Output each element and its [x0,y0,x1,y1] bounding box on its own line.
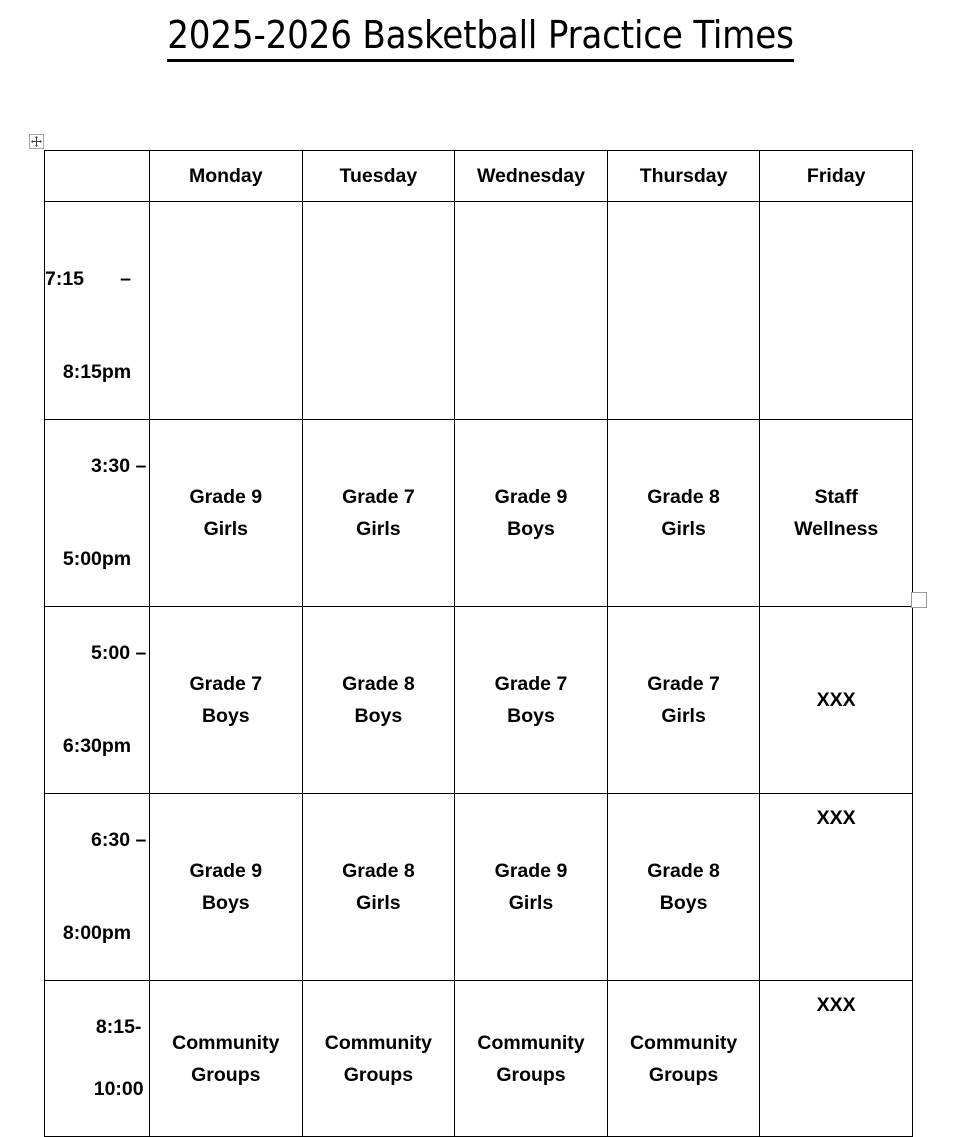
table-row: 6:30 – 8:00pm Grade 9Boys Grade 8Girls G… [45,794,913,981]
page-title: 2025-2026 Basketball Practice Times [167,12,793,62]
time-cell-row-4: 6:30 – 8:00pm [45,794,150,981]
time-cell-row-5: 8:15- 10:00 [45,981,150,1137]
table-row: 8:15- 10:00 CommunityGroups CommunityGro… [45,981,913,1137]
cell-wednesday-row-1 [455,202,608,420]
header-cell-thursday: Thursday [607,151,760,202]
cell-monday-row-1 [150,202,303,420]
cell-tuesday-row-3: Grade 8Boys [302,607,455,794]
table-header-row: Monday Tuesday Wednesday Thursday Friday [45,151,913,202]
cell-friday-row-3: XXX [760,607,913,794]
cell-thursday-row-5: CommunityGroups [607,981,760,1137]
cell-thursday-row-4: Grade 8Boys [607,794,760,981]
time-end: 6:30pm [63,735,131,757]
time-cell-row-1: 7:15 – 8:15pm [45,202,150,420]
document-page: { "document": { "title": "2025-2026 Bask… [0,0,961,640]
table-row: 3:30 – 5:00pm Grade 9Girls Grade 7Girls … [45,420,913,607]
cell-wednesday-row-4: Grade 9Girls [455,794,608,981]
cell-monday-row-3: Grade 7Boys [150,607,303,794]
table-resize-handle[interactable] [911,592,927,608]
practice-schedule-table: Monday Tuesday Wednesday Thursday Friday… [44,150,913,1137]
table-move-handle[interactable] [29,134,44,149]
time-dash: – [120,264,131,295]
time-start: 3:30 – [91,455,146,477]
time-cell-row-2: 3:30 – 5:00pm [45,420,150,607]
cell-monday-row-2: Grade 9Girls [150,420,303,607]
time-start: 7:15 [45,264,84,295]
header-cell-tuesday: Tuesday [302,151,455,202]
cell-thursday-row-2: Grade 8Girls [607,420,760,607]
cell-tuesday-row-5: CommunityGroups [302,981,455,1137]
cell-wednesday-row-3: Grade 7Boys [455,607,608,794]
cell-monday-row-4: Grade 9Boys [150,794,303,981]
move-cross-icon [30,135,43,148]
cell-tuesday-row-1 [302,202,455,420]
cell-friday-row-4: XXX [760,794,913,981]
cell-tuesday-row-4: Grade 8Girls [302,794,455,981]
cell-thursday-row-1 [607,202,760,420]
time-end: 8:00pm [63,922,131,944]
time-start: 6:30 – [91,829,146,851]
cell-thursday-row-3: Grade 7Girls [607,607,760,794]
time-end: 8:15pm [63,361,131,383]
header-corner-cell [45,151,150,202]
page-title-container: 2025-2026 Basketball Practice Times [0,12,961,62]
time-start: 8:15- [96,1016,142,1038]
cell-friday-row-5: XXX [760,981,913,1137]
time-end: 5:00pm [63,548,131,570]
header-cell-friday: Friday [760,151,913,202]
table-row: 5:00 – 6:30pm Grade 7Boys Grade 8Boys Gr… [45,607,913,794]
cell-friday-row-2: StaffWellness [760,420,913,607]
cell-monday-row-5: CommunityGroups [150,981,303,1137]
header-cell-wednesday: Wednesday [455,151,608,202]
time-start: 5:00 – [91,642,146,664]
cell-tuesday-row-2: Grade 7Girls [302,420,455,607]
cell-friday-row-1 [760,202,913,420]
header-cell-monday: Monday [150,151,303,202]
time-line-top: 7:15 – [45,264,131,295]
table-row: 7:15 – 8:15pm [45,202,913,420]
cell-wednesday-row-2: Grade 9Boys [455,420,608,607]
time-cell-row-3: 5:00 – 6:30pm [45,607,150,794]
time-end: 10:00 [94,1078,144,1100]
cell-wednesday-row-5: CommunityGroups [455,981,608,1137]
